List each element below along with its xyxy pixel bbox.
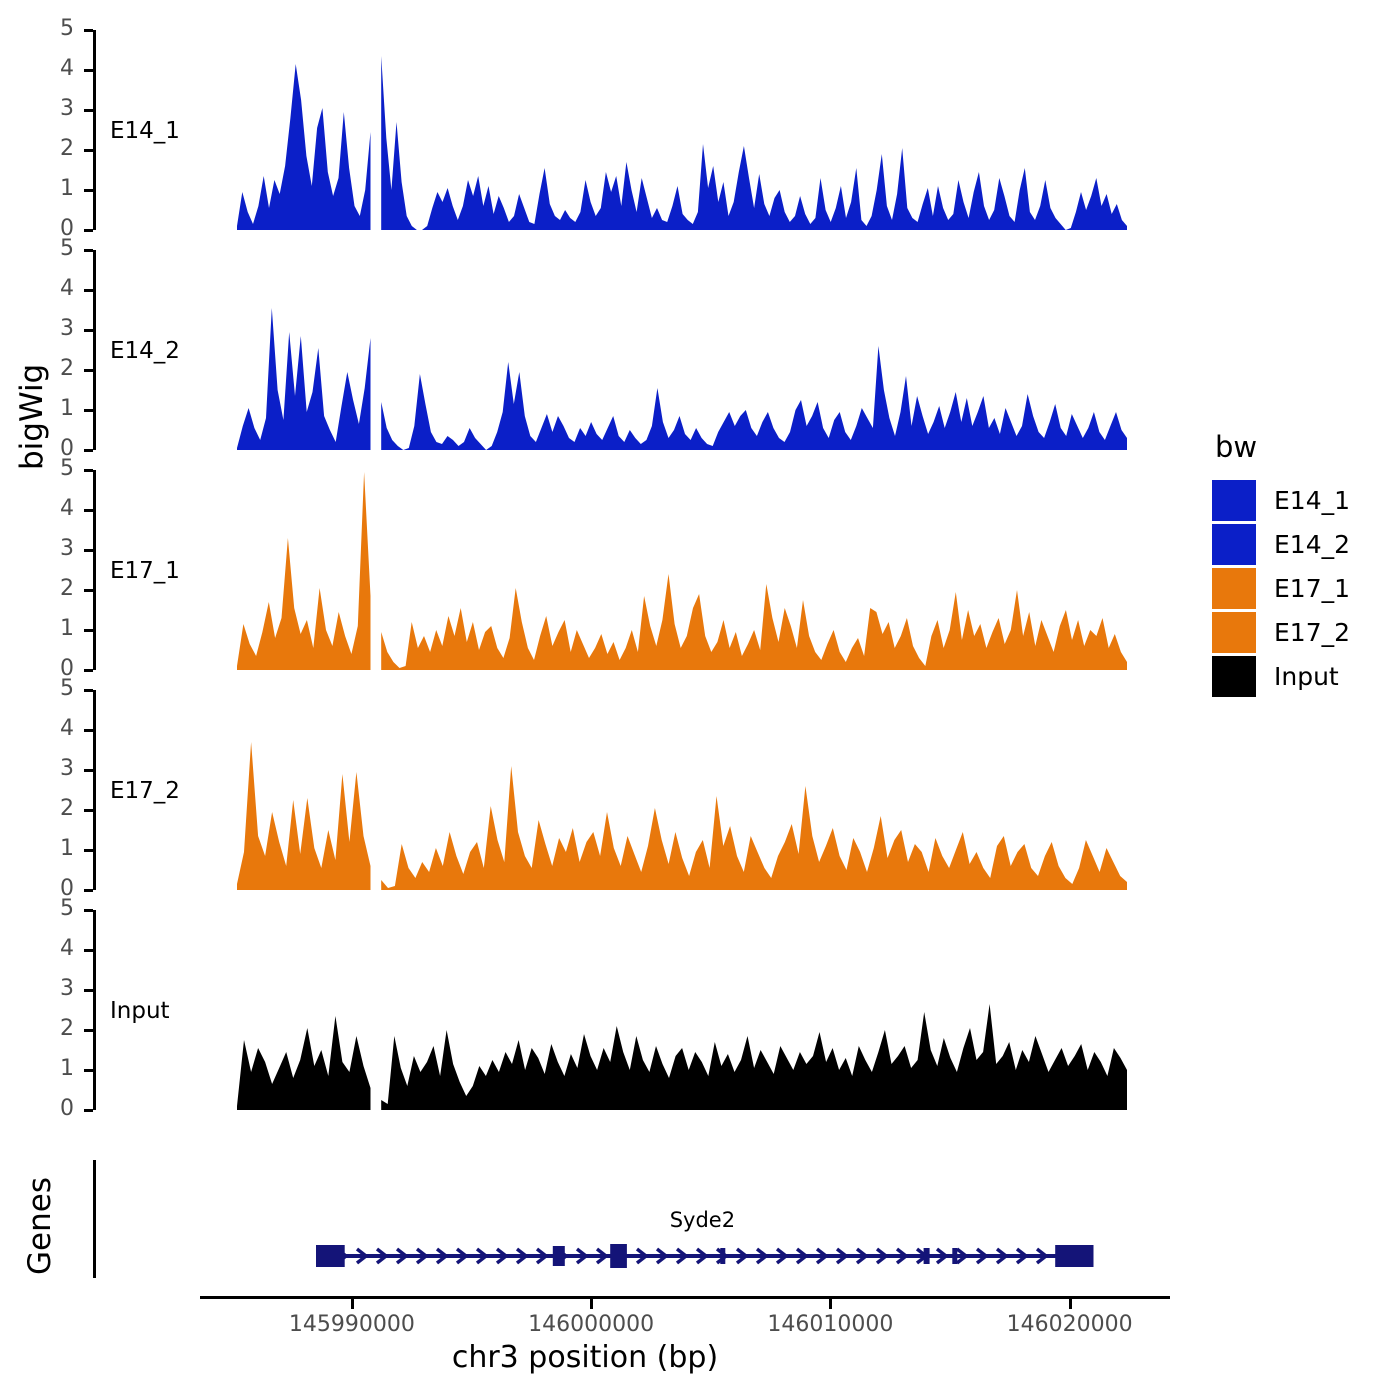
y-tick-label: 4: [46, 498, 74, 520]
y-tick: [84, 329, 93, 332]
y-tick-label: 2: [46, 358, 74, 380]
y-tick-label: 5: [46, 18, 74, 40]
legend-items: E14_1E14_2E17_1E17_2Input: [1212, 478, 1392, 698]
x-tick: [1069, 1299, 1072, 1309]
legend-label: E14_1: [1274, 486, 1350, 515]
track-panel-input: 543210Input: [0, 910, 1200, 1110]
legend-title: bw: [1215, 430, 1392, 464]
x-tick-label: 146010000: [767, 1312, 893, 1337]
y-tick-label: 1: [46, 178, 74, 200]
x-tick-label: 146020000: [1007, 1312, 1133, 1337]
y-tick-label: 4: [46, 58, 74, 80]
y-tick: [84, 889, 93, 892]
y-tick: [84, 809, 93, 812]
y-tick-label: 3: [46, 318, 74, 340]
legend-swatch-icon: [1212, 656, 1256, 697]
track-panel-e17_2: 543210E17_2: [0, 690, 1200, 890]
y-tick-label: 5: [46, 458, 74, 480]
signal-area-e14_2[interactable]: [93, 250, 1200, 450]
legend-label: E14_2: [1274, 530, 1350, 559]
legend-item-input[interactable]: Input: [1212, 654, 1392, 698]
y-tick-label: 1: [46, 618, 74, 640]
y-tick: [84, 249, 93, 252]
y-tick-label: 5: [46, 238, 74, 260]
y-tick-label: 1: [46, 1058, 74, 1080]
legend-label: Input: [1274, 662, 1339, 691]
legend-item-e14_1[interactable]: E14_1: [1212, 478, 1392, 522]
x-axis: 145990000146000000146010000146020000: [0, 1296, 1200, 1356]
y-tick: [84, 729, 93, 732]
track-panel-e17_1: 543210E17_1: [0, 470, 1200, 670]
y-tick: [84, 149, 93, 152]
legend-item-e14_2[interactable]: E14_2: [1212, 522, 1392, 566]
y-tick: [84, 589, 93, 592]
x-tick-label: 146000000: [528, 1312, 654, 1337]
y-tick-label: 3: [46, 98, 74, 120]
y-tick-label: 4: [46, 938, 74, 960]
track-panel-e14_1: 543210E14_1: [0, 30, 1200, 230]
y-tick: [84, 909, 93, 912]
y-tick-label: 2: [46, 1018, 74, 1040]
y-tick-label: 2: [46, 798, 74, 820]
x-axis-line: [200, 1296, 1170, 1299]
legend-item-e17_2[interactable]: E17_2: [1212, 610, 1392, 654]
y-tick-label: 1: [46, 838, 74, 860]
y-tick: [84, 229, 93, 232]
y-tick: [84, 689, 93, 692]
y-tick-label: 5: [46, 898, 74, 920]
y-tick-label: 2: [46, 578, 74, 600]
signal-area-e17_1[interactable]: [93, 470, 1200, 670]
y-tick: [84, 29, 93, 32]
y-tick: [84, 1109, 93, 1112]
y-tick: [84, 369, 93, 372]
y-tick: [84, 509, 93, 512]
y-tick: [84, 109, 93, 112]
y-tick-label: 4: [46, 278, 74, 300]
signal-area-e14_1[interactable]: [93, 30, 1200, 230]
y-tick-label: 1: [46, 398, 74, 420]
legend-label: E17_2: [1274, 618, 1350, 647]
y-tick-label: 5: [46, 678, 74, 700]
y-tick-label: 3: [46, 978, 74, 1000]
y-tick: [84, 189, 93, 192]
y-tick: [84, 449, 93, 452]
y-tick: [84, 949, 93, 952]
y-tick-label: 2: [46, 138, 74, 160]
signal-area-input[interactable]: [93, 910, 1200, 1110]
legend-label: E17_1: [1274, 574, 1350, 603]
y-tick: [84, 1069, 93, 1072]
legend: bw E14_1E14_2E17_1E17_2Input: [1212, 430, 1392, 698]
y-tick: [84, 1029, 93, 1032]
legend-swatch-icon: [1212, 524, 1256, 565]
legend-swatch-icon: [1212, 568, 1256, 609]
y-tick: [84, 469, 93, 472]
x-tick-label: 145990000: [289, 1312, 415, 1337]
y-tick: [84, 549, 93, 552]
legend-item-e17_1[interactable]: E17_1: [1212, 566, 1392, 610]
y-tick: [84, 629, 93, 632]
x-tick: [351, 1299, 354, 1309]
y-tick-label: 4: [46, 718, 74, 740]
x-tick: [590, 1299, 593, 1309]
track-panel-e14_2: 543210E14_2: [0, 250, 1200, 450]
y-tick-label: 3: [46, 758, 74, 780]
genes-panel: Syde2: [0, 1160, 1200, 1295]
y-tick: [84, 289, 93, 292]
signal-area-e17_2[interactable]: [93, 690, 1200, 890]
y-tick-label: 0: [46, 1098, 74, 1120]
y-tick: [84, 769, 93, 772]
y-tick: [84, 69, 93, 72]
genome-browser-figure: bigWig Genes chr3 position (bp) 543210E1…: [0, 0, 1400, 1400]
y-tick: [84, 669, 93, 672]
legend-swatch-icon: [1212, 612, 1256, 653]
y-tick: [84, 849, 93, 852]
x-tick: [829, 1299, 832, 1309]
legend-swatch-icon: [1212, 480, 1256, 521]
y-tick: [84, 409, 93, 412]
y-tick-label: 3: [46, 538, 74, 560]
y-tick: [84, 989, 93, 992]
